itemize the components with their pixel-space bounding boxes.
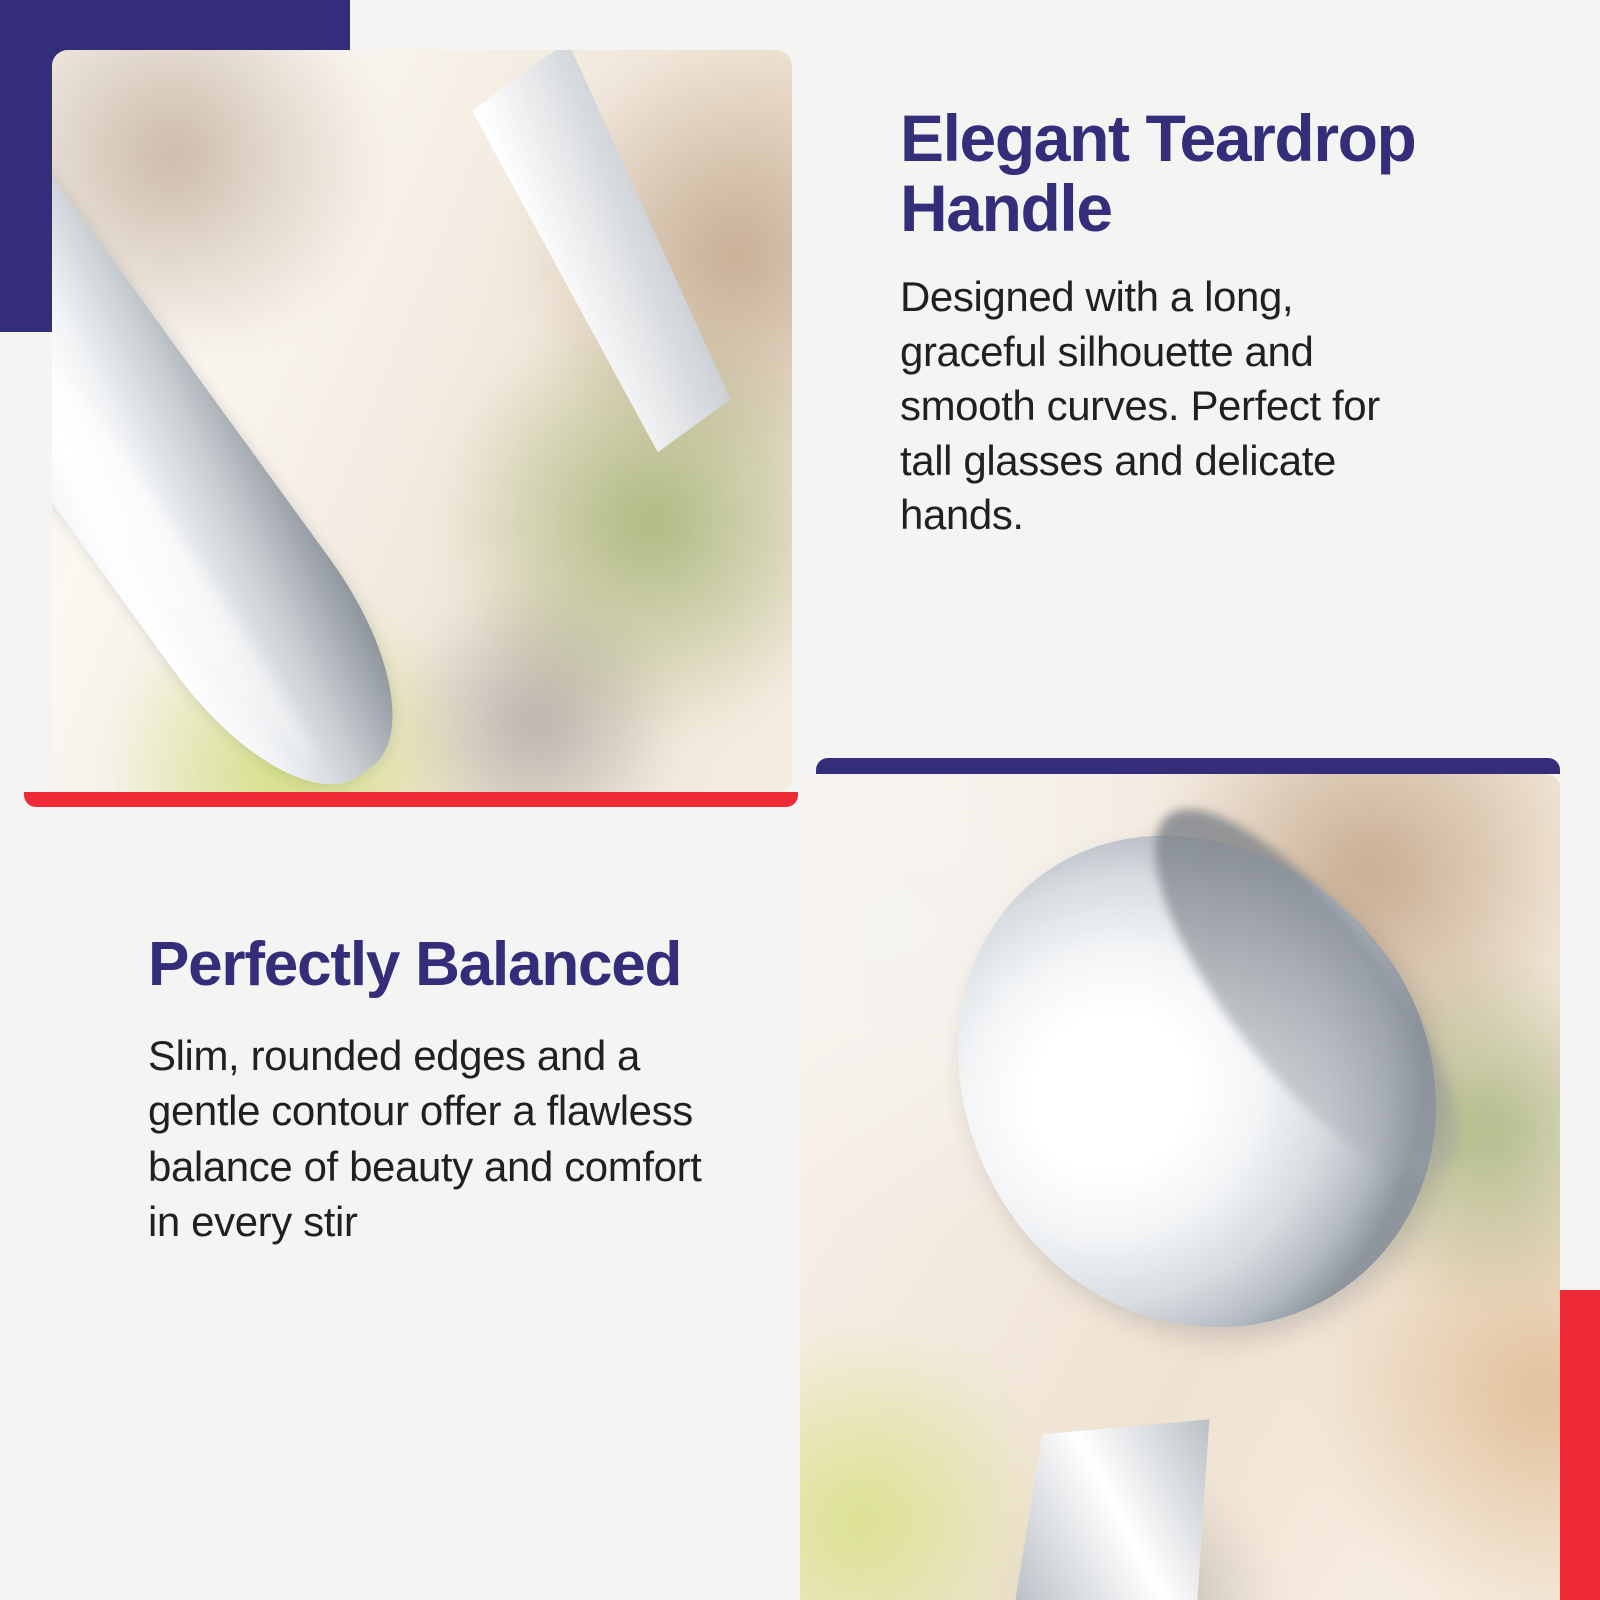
feature-title: Elegant Teardrop Handle (900, 104, 1440, 244)
feature-image-card-teardrop-handle (52, 50, 792, 807)
feature-description: Designed with a long, graceful silhouett… (900, 270, 1440, 543)
spoon-bowl-photo (800, 774, 1560, 1600)
feature-text-perfectly-balanced: Perfectly Balanced Slim, rounded edges a… (148, 932, 708, 1249)
spoon-handle-photo (52, 50, 792, 793)
spoon-handle-illustration (52, 50, 792, 793)
photo-scene-handle (52, 50, 792, 793)
spoon-handle-teardrop (52, 50, 443, 793)
spoon-bowl-illustration (800, 774, 1560, 1600)
feature-description: Slim, rounded edges and a gentle contour… (148, 1028, 708, 1250)
feature-image-card-perfectly-balanced (800, 758, 1560, 1600)
feature-title: Perfectly Balanced (148, 932, 708, 998)
red-accent-bar (24, 792, 798, 807)
photo-scene-bowl (800, 774, 1560, 1600)
spoon-bowl (858, 774, 1533, 1422)
feature-text-teardrop-handle: Elegant Teardrop Handle Designed with a … (900, 104, 1440, 543)
infographic-canvas: Elegant Teardrop Handle Designed with a … (0, 0, 1600, 1600)
spoon-neck (848, 1286, 1429, 1600)
navy-accent-bar (816, 758, 1560, 774)
spoon-handle-stem (340, 50, 792, 518)
